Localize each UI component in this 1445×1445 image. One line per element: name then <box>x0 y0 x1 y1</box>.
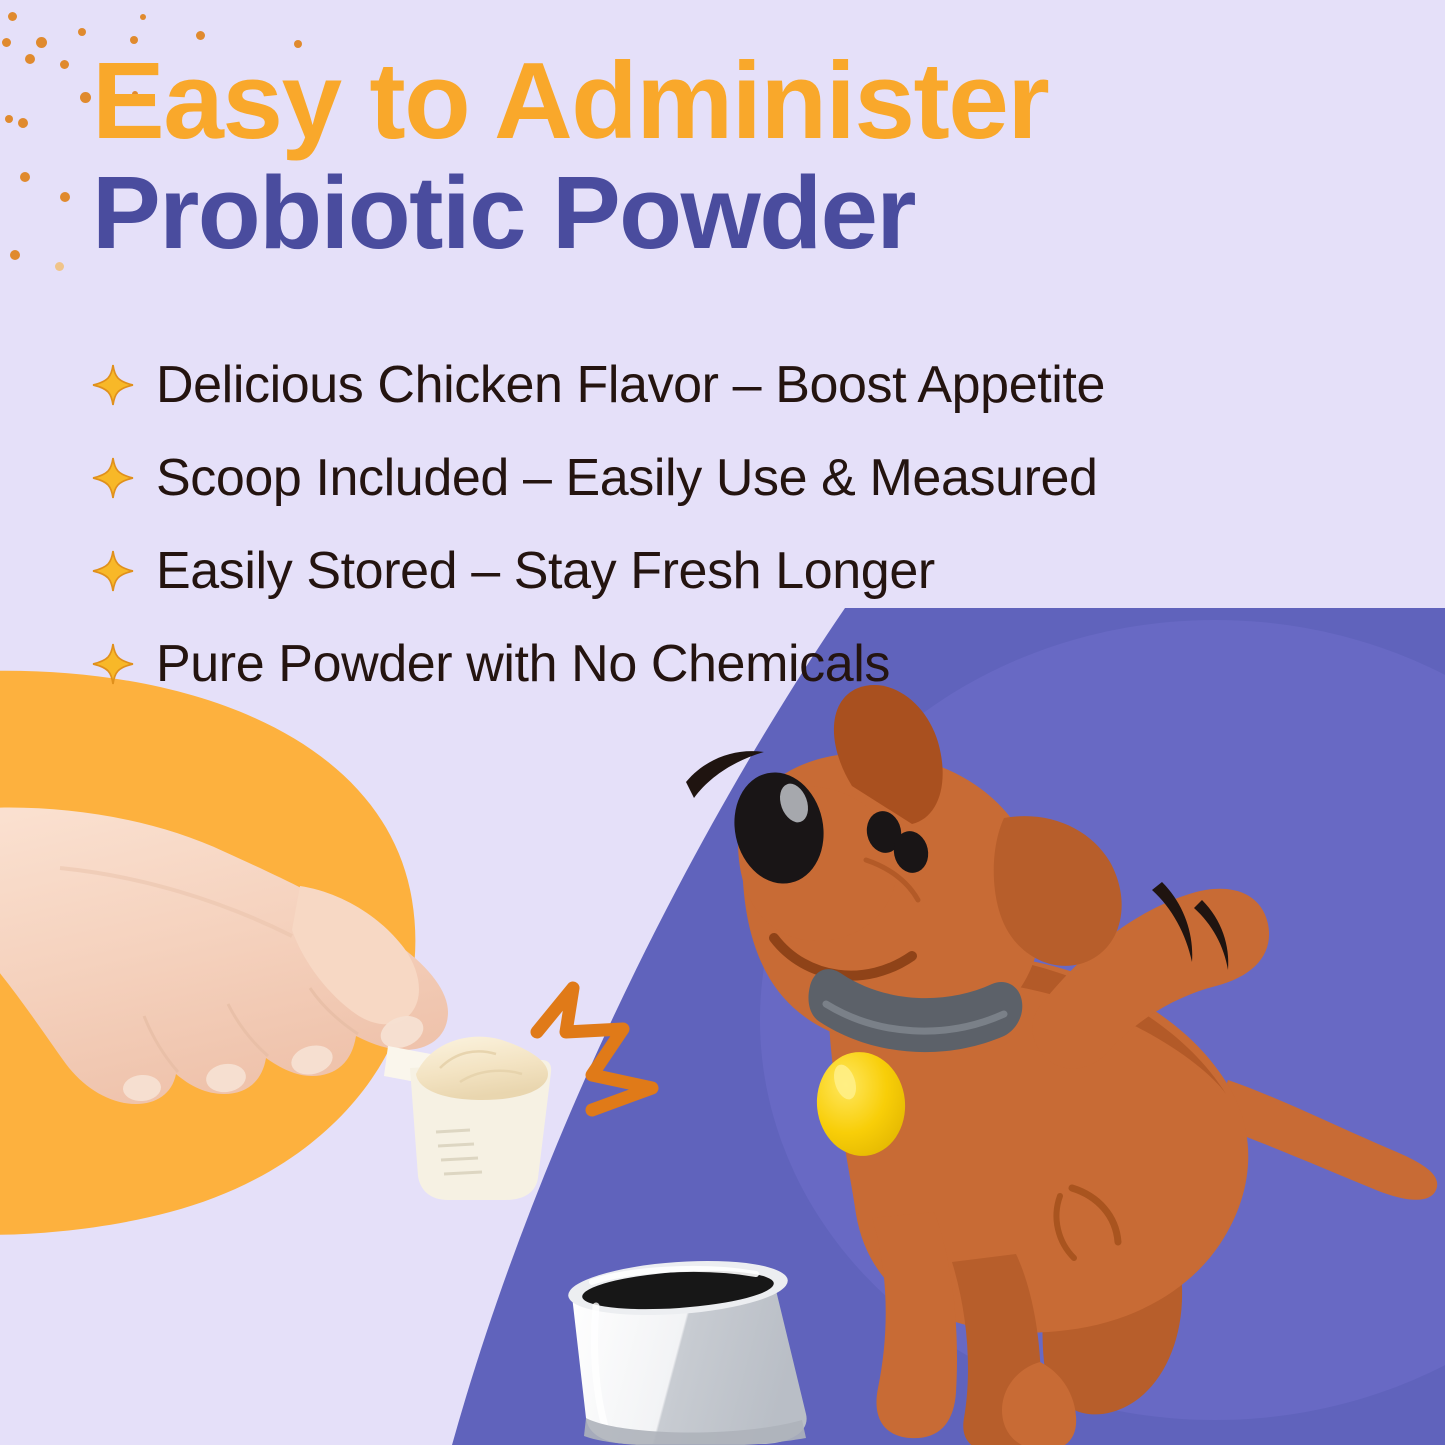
feature-label: Easily Stored – Stay Fresh Longer <box>156 541 935 601</box>
sparkle-star-icon <box>92 643 134 685</box>
sparkle-star-icon <box>92 457 134 499</box>
orange-background-blob <box>0 671 415 1235</box>
feature-list: Delicious Chicken Flavor – Boost Appetit… <box>92 338 1322 710</box>
list-item: Pure Powder with No Chemicals <box>92 617 1322 710</box>
page-title-line-1: Easy to Administer <box>92 46 1352 157</box>
list-item: Easily Stored – Stay Fresh Longer <box>92 524 1322 617</box>
sparkle-star-icon <box>92 364 134 406</box>
page-title-line-2: Probiotic Powder <box>92 157 1352 268</box>
infographic-canvas: Easy to Administer Probiotic Powder Deli… <box>0 0 1445 1445</box>
feature-label: Scoop Included – Easily Use & Measured <box>156 448 1098 508</box>
feature-label: Pure Powder with No Chemicals <box>156 634 890 694</box>
headline-block: Easy to Administer Probiotic Powder <box>92 46 1352 268</box>
list-item: Scoop Included – Easily Use & Measured <box>92 431 1322 524</box>
list-item: Delicious Chicken Flavor – Boost Appetit… <box>92 338 1322 431</box>
feature-label: Delicious Chicken Flavor – Boost Appetit… <box>156 355 1105 415</box>
sparkle-star-icon <box>92 550 134 592</box>
